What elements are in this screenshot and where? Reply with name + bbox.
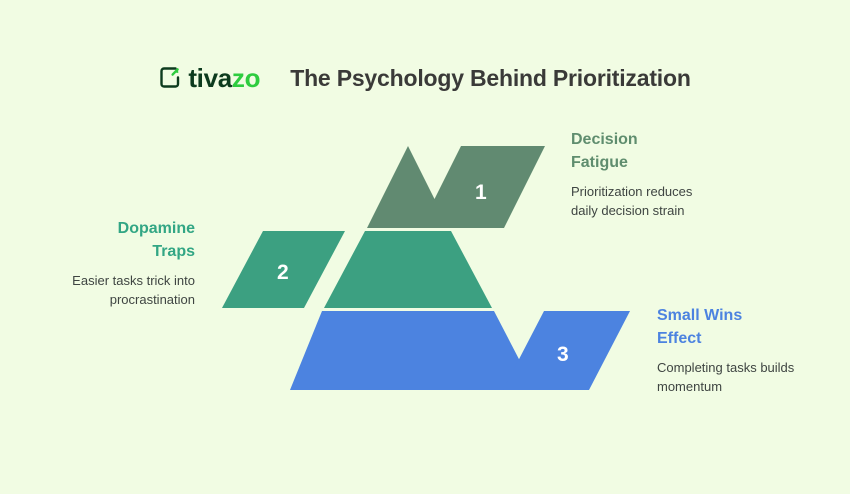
infographic-canvas: tivazo The Psychology Behind Prioritizat… <box>0 0 850 494</box>
callout-title-line-1: Decision <box>571 131 638 148</box>
callout-decision-fatigue-body: Prioritization reduces daily decision st… <box>571 183 721 219</box>
callout-title-line-1: Small Wins <box>657 307 742 324</box>
callout-decision-fatigue-title: DecisionFatigue <box>571 128 721 174</box>
callout-dopamine-traps: DopamineTraps Easier tasks trick into pr… <box>45 217 195 309</box>
pyramid-tier-2-wing[interactable] <box>222 231 345 308</box>
callout-title-line-1: Dopamine <box>118 220 195 237</box>
callout-small-wins-title: Small WinsEffect <box>657 304 817 350</box>
pyramid-tier-1-wing[interactable] <box>420 146 545 228</box>
callout-title-line-2: Fatigue <box>571 154 628 171</box>
callout-dopamine-traps-title: DopamineTraps <box>45 217 195 263</box>
callout-title-line-2: Effect <box>657 330 701 347</box>
callout-title-line-2: Traps <box>152 243 195 260</box>
callout-small-wins: Small WinsEffect Completing tasks builds… <box>657 304 817 396</box>
callout-dopamine-traps-body: Easier tasks trick into procrastination <box>45 272 195 308</box>
pyramid-tier-3-core <box>290 311 535 390</box>
pyramid-tier-2-core <box>324 231 492 308</box>
callout-decision-fatigue: DecisionFatigue Prioritization reduces d… <box>571 128 721 220</box>
callout-small-wins-body: Completing tasks builds momentum <box>657 359 817 395</box>
pyramid-tier-3-wing[interactable] <box>503 311 630 390</box>
